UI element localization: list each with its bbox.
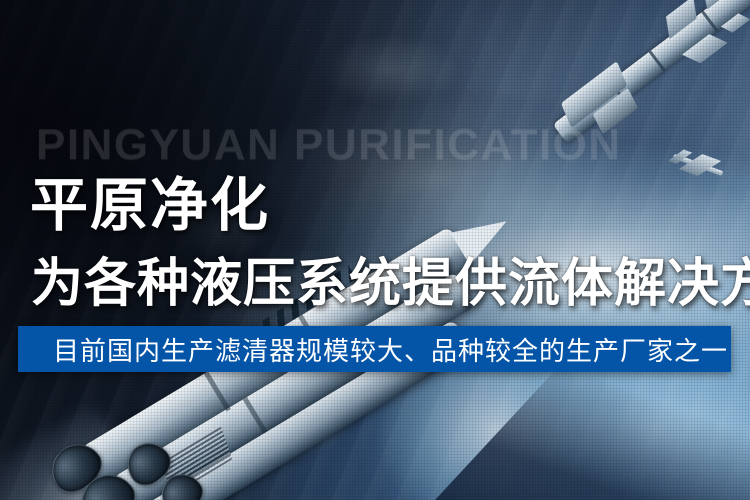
subtitle-bar: 目前国内生产滤清器规模较大、品种较全的生产厂家之一: [18, 326, 731, 372]
watermark-text: PINGYUAN PURIFICATION: [36, 120, 622, 170]
halftone-overlay: [0, 0, 750, 500]
headline-secondary: 为各种液压系统提供流体解决方案: [31, 258, 750, 310]
page-title: 平原净化: [30, 176, 270, 234]
hero-banner: PINGYUAN PURIFICATION 平原净化 为各种液压系统提供流体解决…: [0, 0, 750, 500]
subtitle-bar-text: 目前国内生产滤清器规模较大、品种较全的生产厂家之一: [53, 326, 728, 372]
